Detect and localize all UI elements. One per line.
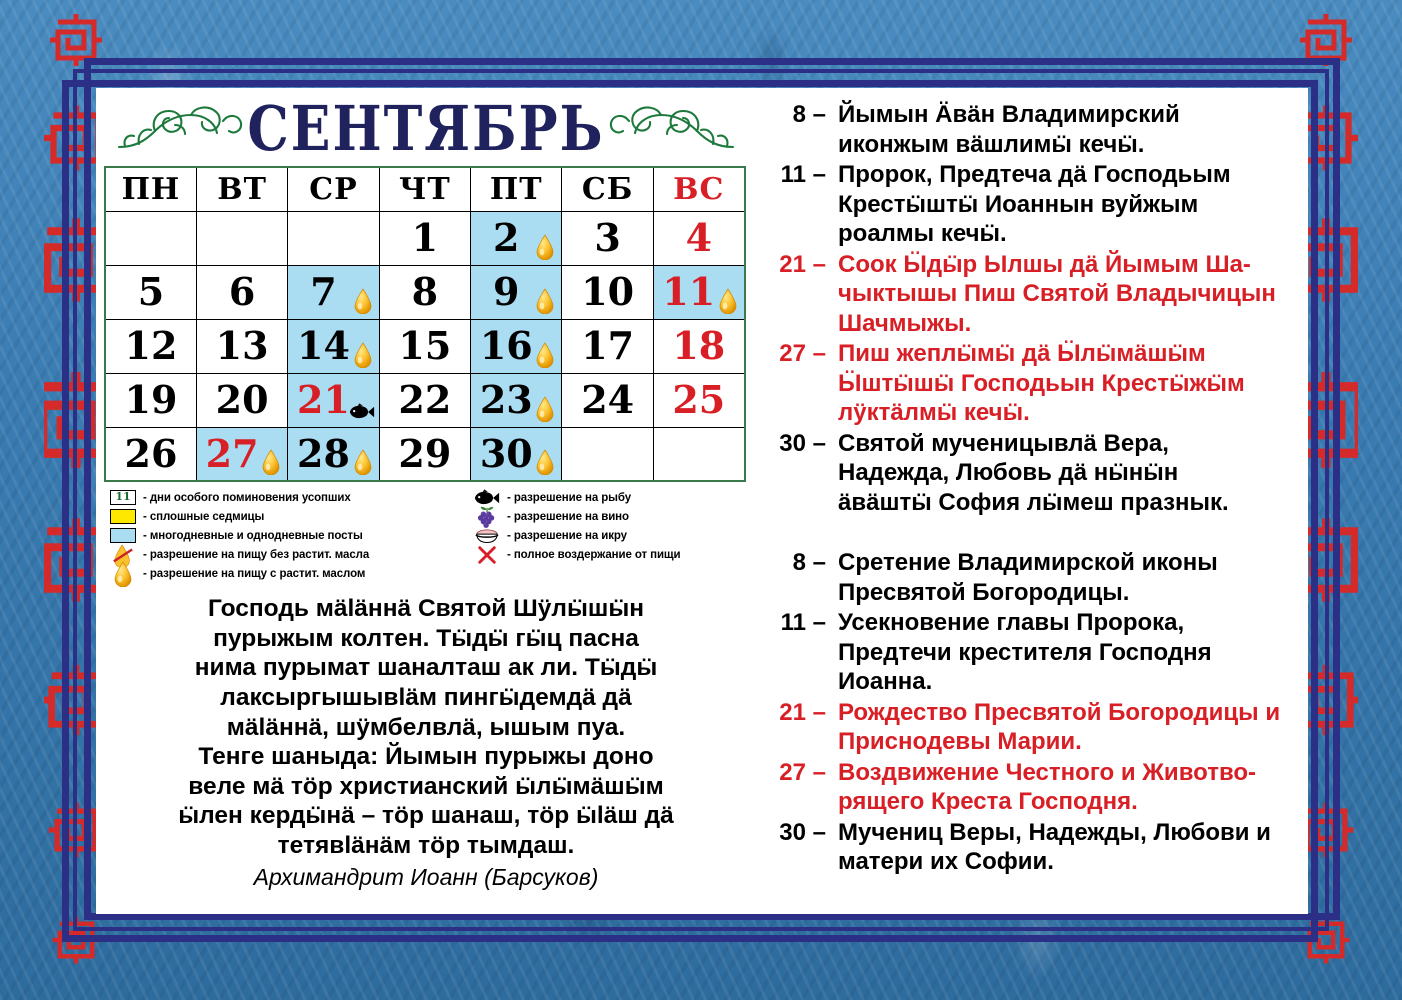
day-cell[interactable]: 18	[653, 319, 744, 373]
legend-row: - полное воздержание от пищи	[472, 545, 681, 564]
events-list-russian: 8 –Сретение Владимирской иконыПресвятой …	[762, 548, 1298, 877]
month-grid: ПН ВТ СР ЧТ ПТ СБ ВС 1234567891011121314…	[104, 166, 746, 482]
day-cell-empty	[196, 211, 287, 265]
event-entry: 21 –Соок Ӹдӹр Ылшы дä Йымым Ша-чыктышы П…	[762, 250, 1298, 339]
event-description: Усекновение главы Пророка,Предтечи крест…	[838, 608, 1298, 697]
oil-drop-marker	[535, 449, 555, 475]
legend-row: - разрешение на пищу с растит. маслом	[108, 564, 369, 583]
legend-label: - дни особого поминовения усопших	[143, 492, 351, 504]
legend-label: - разрешение на пищу с растит. маслом	[143, 568, 365, 580]
fish-icon	[472, 489, 502, 506]
oil-drop-icon	[535, 234, 555, 260]
day-number: 25	[672, 381, 725, 419]
events-list-separator	[762, 518, 1298, 548]
event-line: Надежда, Любовь дä нӹнӹн	[838, 458, 1298, 488]
event-line: äвäштӹ София лӹмеш празнык.	[838, 488, 1298, 518]
solid-week-swatch-icon	[108, 508, 138, 525]
legend-label: - сплошные седмицы	[143, 511, 264, 523]
event-description: Пророк, Предтеча дä ГосподьымКрестӹштӹ И…	[838, 160, 1298, 249]
legend-row: 11- дни особого поминовения усопших	[108, 488, 369, 507]
grapes-wine-icon	[477, 505, 497, 529]
event-entry: 8 –Йымын Äвäн Владимирскийиконжым вäшлим…	[762, 100, 1298, 159]
event-line: Святой мученицывлä Вера,	[838, 429, 1298, 459]
event-description: Мучениц Веры, Надежды, Любови иматери их…	[838, 818, 1298, 877]
quote-line: Господь мäläннä Святой Шӱлӹшӹн	[122, 594, 730, 624]
weekday-header-sat: СБ	[562, 167, 653, 211]
day-cell[interactable]: 19	[105, 373, 196, 427]
events-list-mari: 8 –Йымын Äвäн Владимирскийиконжым вäшлим…	[762, 100, 1298, 517]
oil-drop-icon	[535, 342, 555, 368]
day-cell[interactable]: 29	[379, 427, 470, 481]
quote-line: веле мä тöр христианский ӹлӹмäшӹм	[122, 772, 730, 802]
legend-label: - многодневные и однодневные посты	[143, 530, 363, 542]
legend-label: - разрешение на пищу без растит. масла	[143, 549, 369, 561]
quote-author: Архимандрит Иоанн (Барсуков)	[122, 864, 730, 891]
weekday-header-sun: ВС	[653, 167, 744, 211]
day-number: 10	[581, 273, 634, 311]
grapes-wine-icon	[472, 508, 502, 525]
day-cell[interactable]: 4	[653, 211, 744, 265]
fish-marker	[349, 403, 375, 421]
day-number: 4	[686, 219, 712, 257]
event-line: Пророк, Предтеча дä Господьым	[838, 160, 1298, 190]
event-day: 21 –	[762, 698, 838, 728]
oil-drop-icon	[353, 342, 373, 368]
day-cell[interactable]: 7	[288, 265, 379, 319]
event-line: лӱктäлмӹ кечӹ.	[838, 398, 1298, 428]
calendar-card: СЕНТЯБРЬ ПН ВТ СР ЧТ	[96, 88, 1308, 914]
caviar-bowl-icon	[474, 527, 500, 545]
event-line: Крестӹштӹ Иоаннын вуйжым	[838, 190, 1298, 220]
quote-block: Господь мäläннä Святой Шӱлӹшӹнпурыжым ко…	[104, 594, 748, 891]
day-cell[interactable]: 27	[196, 427, 287, 481]
event-day: 30 –	[762, 818, 838, 848]
oil-drop-marker	[535, 288, 555, 314]
event-line: Ӹштӹшӹ Господьын Крестӹжӹм	[838, 369, 1298, 399]
oil-drop-icon	[535, 288, 555, 314]
day-cell-empty	[288, 211, 379, 265]
weekday-header-tue: ВТ	[196, 167, 287, 211]
day-number: 5	[138, 273, 164, 311]
event-day: 11 –	[762, 160, 838, 190]
oil-drop-marker	[353, 288, 373, 314]
day-cell-empty	[562, 427, 653, 481]
red-cross-abstinence-icon	[477, 545, 497, 565]
quote-line: тетявläнäм тöр тымдаш.	[122, 831, 730, 861]
legend-row: - разрешение на пищу без растит. масла	[108, 545, 369, 564]
event-day: 21 –	[762, 250, 838, 280]
event-entry: 27 –Пиш жеплӹмӹ дä ӸлӹмäшӹмӸштӹшӹ Господ…	[762, 339, 1298, 428]
event-entry: 11 –Пророк, Предтеча дä ГосподьымКрестӹш…	[762, 160, 1298, 249]
event-entry: 27 –Воздвижение Честного и Животво-рящег…	[762, 758, 1298, 817]
event-line: Рождество Пресвятой Богородицы и	[838, 698, 1298, 728]
day-cell[interactable]: 13	[196, 319, 287, 373]
event-day: 30 –	[762, 429, 838, 459]
memorial-box-icon: 11	[108, 489, 138, 506]
vine-flourish-right-icon	[609, 101, 737, 159]
oil-drop-marker	[353, 449, 373, 475]
oil-drop-marker	[261, 449, 281, 475]
day-number: 16	[480, 327, 533, 365]
day-number: 27	[206, 435, 259, 473]
day-cell[interactable]: 21	[288, 373, 379, 427]
day-number: 8	[412, 273, 438, 311]
quote-line: пурыжым колтен. Тӹдӹ гӹц пасна	[122, 624, 730, 654]
event-description: Святой мученицывлä Вера,Надежда, Любовь …	[838, 429, 1298, 518]
day-cell[interactable]: 3	[562, 211, 653, 265]
week-row: 19202122232425	[105, 373, 745, 427]
event-day: 11 –	[762, 608, 838, 638]
day-cell[interactable]: 20	[196, 373, 287, 427]
oil-drop-icon	[535, 396, 555, 422]
event-line: Пресвятой Богородицы.	[838, 578, 1298, 608]
day-cell[interactable]: 25	[653, 373, 744, 427]
day-cell[interactable]: 26	[105, 427, 196, 481]
day-number: 26	[125, 435, 178, 473]
day-number: 14	[297, 327, 350, 365]
oil-drop-marker	[535, 396, 555, 422]
event-entry: 30 –Мучениц Веры, Надежды, Любови иматер…	[762, 818, 1298, 877]
page-title: СЕНТЯБРЬ	[247, 99, 604, 160]
day-cell[interactable]: 9	[471, 265, 562, 319]
day-number: 7	[310, 273, 336, 311]
legend-column-primary: 11- дни особого поминовения усопших- спл…	[108, 488, 369, 583]
week-row: 567891011	[105, 265, 745, 319]
legend-column-secondary: - разрешение на рыбу- разрешение на вино…	[472, 488, 681, 564]
event-line: Шачмыжы.	[838, 309, 1298, 339]
legend-row: - многодневные и однодневные посты	[108, 526, 369, 545]
weekday-header-mon: ПН	[105, 167, 196, 211]
day-number: 15	[398, 327, 451, 365]
event-description: Пиш жеплӹмӹ дä ӸлӹмäшӹмӸштӹшӹ Господьын …	[838, 339, 1298, 428]
event-description: Рождество Пресвятой Богородицы иПрисноде…	[838, 698, 1298, 757]
event-line: Сретение Владимирской иконы	[838, 548, 1298, 578]
events-pane: 8 –Йымын Äвäн Владимирскийиконжым вäшлим…	[756, 88, 1308, 914]
day-number: 29	[398, 435, 451, 473]
fast-days-swatch-icon	[108, 527, 138, 544]
event-description: Сретение Владимирской иконыПресвятой Бог…	[838, 548, 1298, 607]
event-line: Усекновение главы Пророка,	[838, 608, 1298, 638]
day-number: 21	[297, 381, 350, 419]
weekday-header-fri: ПТ	[471, 167, 562, 211]
event-line: Йымын Äвäн Владимирский	[838, 100, 1298, 130]
event-line: матери их Софии.	[838, 847, 1298, 877]
caviar-bowl-icon	[472, 527, 502, 544]
day-number: 23	[480, 381, 533, 419]
month-grid-body: 1234567891011121314151617181920212223242…	[105, 211, 745, 481]
event-description: Воздвижение Честного и Животво-рящего Кр…	[838, 758, 1298, 817]
day-cell[interactable]: 15	[379, 319, 470, 373]
weekday-header-thu: ЧТ	[379, 167, 470, 211]
day-cell[interactable]: 30	[471, 427, 562, 481]
day-cell[interactable]: 14	[288, 319, 379, 373]
day-number: 13	[216, 327, 269, 365]
month-title-row: СЕНТЯБРЬ	[104, 96, 748, 164]
weekday-header-wed: СР	[288, 167, 379, 211]
oil-drop-marker	[535, 234, 555, 260]
event-day: 8 –	[762, 100, 838, 130]
day-number: 1	[412, 219, 438, 257]
oil-drop-icon	[353, 449, 373, 475]
day-cell[interactable]: 8	[379, 265, 470, 319]
legend-label: - разрешение на рыбу	[507, 492, 631, 504]
week-row: 2627282930	[105, 427, 745, 481]
day-number: 3	[594, 219, 620, 257]
day-cell[interactable]: 1	[379, 211, 470, 265]
day-cell[interactable]: 12	[105, 319, 196, 373]
day-cell[interactable]: 11	[653, 265, 744, 319]
day-cell-empty	[653, 427, 744, 481]
quote-line: нима пурымат шаналташ ак ли. Тӹдӹ	[122, 653, 730, 683]
event-line: Мучениц Веры, Надежды, Любови и	[838, 818, 1298, 848]
day-cell[interactable]: 17	[562, 319, 653, 373]
legend-row: - сплошные седмицы	[108, 507, 369, 526]
quote-line: ӹлен кердӹнä – тöр шанаш, тöр ӹläш дä	[122, 801, 730, 831]
vine-flourish-left-icon	[115, 101, 243, 159]
quote-line: мäläннä, шӱмбелвлä, ышым пуа.	[122, 713, 730, 743]
day-number: 19	[125, 381, 178, 419]
quote-line: Тенге шаныда: Йымын пурыжы доно	[122, 742, 730, 772]
oil-drop-marker	[718, 288, 738, 314]
event-description: Соок Ӹдӹр Ылшы дä Йымым Ша-чыктышы Пиш С…	[838, 250, 1298, 339]
day-cell[interactable]: 10	[562, 265, 653, 319]
day-cell[interactable]: 22	[379, 373, 470, 427]
day-cell[interactable]: 23	[471, 373, 562, 427]
day-cell[interactable]: 28	[288, 427, 379, 481]
event-day: 27 –	[762, 758, 838, 788]
legend-label: - разрешение на вино	[507, 511, 629, 523]
event-line: Соок Ӹдӹр Ылшы дä Йымым Ша-	[838, 250, 1298, 280]
day-number: 6	[229, 273, 255, 311]
legend-label: - разрешение на икру	[507, 530, 627, 542]
oil-drop-icon	[261, 449, 281, 475]
event-entry: 8 –Сретение Владимирской иконыПресвятой …	[762, 548, 1298, 607]
calendar-pane: СЕНТЯБРЬ ПН ВТ СР ЧТ	[96, 88, 756, 914]
oil-drop-icon	[113, 561, 133, 587]
event-entry: 21 –Рождество Пресвятой Богородицы иПрис…	[762, 698, 1298, 757]
legend: 11- дни особого поминовения усопших- спл…	[104, 488, 748, 586]
food-with-oil-icon	[108, 565, 138, 582]
oil-drop-marker	[535, 342, 555, 368]
weekday-header-row: ПН ВТ СР ЧТ ПТ СБ ВС	[105, 167, 745, 211]
week-row: 12131415161718	[105, 319, 745, 373]
event-line: Пиш жеплӹмӹ дä Ӹлӹмäшӹм	[838, 339, 1298, 369]
event-entry: 30 –Святой мученицывлä Вера,Надежда, Люб…	[762, 429, 1298, 518]
event-line: иконжым вäшлимӹ кечӹ.	[838, 130, 1298, 160]
week-row: 1234	[105, 211, 745, 265]
legend-label: - полное воздержание от пищи	[507, 549, 681, 561]
red-cross-abstinence-icon	[472, 546, 502, 563]
event-entry: 11 –Усекновение главы Пророка,Предтечи к…	[762, 608, 1298, 697]
quote-line: лаксыргышывläм пингӹдемдä дä	[122, 683, 730, 713]
event-line: чыктышы Пиш Святой Владычицын	[838, 279, 1298, 309]
day-cell[interactable]: 6	[196, 265, 287, 319]
event-line: Приснодевы Марии.	[838, 727, 1298, 757]
day-cell[interactable]: 24	[562, 373, 653, 427]
day-number: 9	[493, 273, 519, 311]
day-number: 30	[480, 435, 533, 473]
day-number: 28	[297, 435, 350, 473]
day-cell[interactable]: 16	[471, 319, 562, 373]
day-number: 18	[672, 327, 725, 365]
legend-row: - разрешение на рыбу	[472, 488, 681, 507]
oil-drop-icon	[718, 288, 738, 314]
oil-drop-icon	[353, 288, 373, 314]
event-line: Воздвижение Честного и Животво-	[838, 758, 1298, 788]
oil-drop-marker	[353, 342, 373, 368]
day-number: 22	[398, 381, 451, 419]
day-cell[interactable]: 2	[471, 211, 562, 265]
day-number: 11	[662, 273, 715, 311]
event-line: Иоанна.	[838, 667, 1298, 697]
event-day: 27 –	[762, 339, 838, 369]
fish-icon	[349, 403, 375, 421]
quote-text: Господь мäläннä Святой Шӱлӹшӹнпурыжым ко…	[122, 594, 730, 861]
day-number: 2	[493, 219, 519, 257]
event-line: роалмы кечӹ.	[838, 219, 1298, 249]
day-number: 17	[581, 327, 634, 365]
legend-row: - разрешение на вино	[472, 507, 681, 526]
day-number: 24	[581, 381, 634, 419]
legend-row: - разрешение на икру	[472, 526, 681, 545]
event-description: Йымын Äвäн Владимирскийиконжым вäшлимӹ к…	[838, 100, 1298, 159]
day-cell-empty	[105, 211, 196, 265]
event-line: Предтечи крестителя Господня	[838, 638, 1298, 668]
event-day: 8 –	[762, 548, 838, 578]
day-number: 20	[216, 381, 269, 419]
oil-drop-icon	[535, 449, 555, 475]
event-line: рящего Креста Господня.	[838, 787, 1298, 817]
day-cell[interactable]: 5	[105, 265, 196, 319]
day-number: 12	[125, 327, 178, 365]
